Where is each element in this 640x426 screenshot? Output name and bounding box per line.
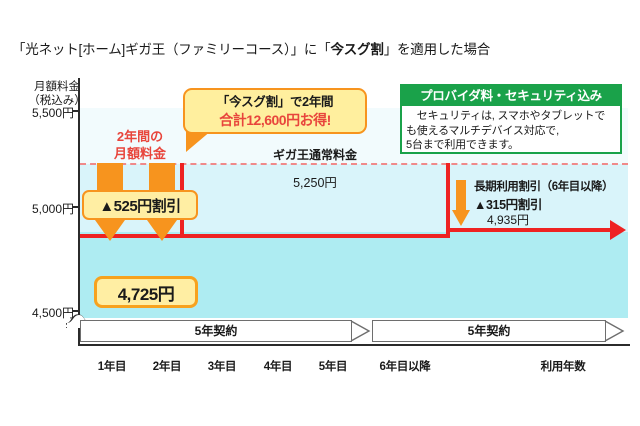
x-axis-line [78, 344, 630, 346]
info-panel-body-line3: 5台まで利用できます。 [406, 138, 616, 153]
y-tick-mark-5000 [72, 206, 80, 208]
two-year-price-line1: 2年間の [88, 128, 192, 145]
info-panel-title: プロバイダ料・セキュリティ込み [402, 86, 620, 106]
page-title: 「光ネット[ホーム]ギガ王（ファミリーコース）」に「今スグ割」を適用した場合 [12, 38, 632, 58]
provider-security-info-panel: プロバイダ料・セキュリティ込み セキュリティは, スマホやタブレットで も使える… [400, 84, 622, 154]
info-panel-body: セキュリティは, スマホやタブレットで も使えるマルチデバイス対応で, 5台まで… [402, 106, 620, 153]
two-year-price-label: 2年間の 月額料金 [88, 128, 192, 162]
x-tick-label-4: 4年目 [252, 358, 304, 374]
info-panel-body-line2: も使えるマルチデバイス対応で, [406, 124, 616, 139]
normal-price-value: 5,250円 [225, 172, 405, 191]
x-tick-label-2: 2年目 [141, 358, 193, 374]
contract-band-1-label: 5年契約 [80, 322, 352, 340]
longterm-discount-title: 長期利用割引（6年目以降） [474, 178, 613, 194]
y-tick-label-5000: 5,000円 [12, 200, 74, 217]
headline-prefix: 「光ネット[ホーム]ギガ王（ファミリーコース）」に「 [12, 42, 330, 57]
longterm-down-arrow-icon [452, 180, 470, 228]
y-axis-title-line1: 月額料金 [22, 80, 92, 94]
x-tick-label-3: 3年目 [196, 358, 248, 374]
contract-band-1-chevron-icon [350, 320, 372, 342]
info-panel-body-line1: セキュリティは, スマホやタブレットで [406, 109, 616, 124]
price-line-segment-longterm [446, 228, 614, 232]
y-tick-mark-5500 [72, 110, 80, 112]
contract-band-2-label: 5年契約 [372, 322, 606, 340]
x-tick-label-1: 1年目 [86, 358, 138, 374]
headline-suffix: 」を適用した場合 [384, 42, 490, 57]
headline-emphasis: 今スグ割 [330, 42, 383, 57]
longterm-price-value: 4,935円 [487, 211, 529, 228]
discount-amount-badge: ▲525円割引 [82, 190, 198, 220]
savings-callout-line2: 合計12,600円お得! [185, 111, 365, 130]
y-tick-label-5500: 5,500円 [12, 104, 74, 121]
discounted-price-badge: 4,725円 [94, 276, 198, 308]
normal-price-label: ギガ王通常料金 [225, 146, 405, 163]
chart-root: 「光ネット[ホーム]ギガ王（ファミリーコース）」に「今スグ割」を適用した場合 月… [0, 0, 640, 426]
x-tick-label-5: 5年目 [307, 358, 359, 374]
x-tick-label-6: 6年目以降 [367, 358, 443, 374]
x-axis-title: 利用年数 [525, 358, 601, 374]
price-line-arrow-icon [610, 220, 626, 240]
contract-band-2-chevron-icon [604, 320, 626, 342]
savings-callout-line1: 「今スグ割」で2年間 [185, 94, 365, 111]
two-year-price-line2: 月額料金 [88, 145, 192, 162]
y-axis-line [78, 78, 80, 346]
savings-callout: 「今スグ割」で2年間 合計12,600円お得! [183, 88, 367, 134]
